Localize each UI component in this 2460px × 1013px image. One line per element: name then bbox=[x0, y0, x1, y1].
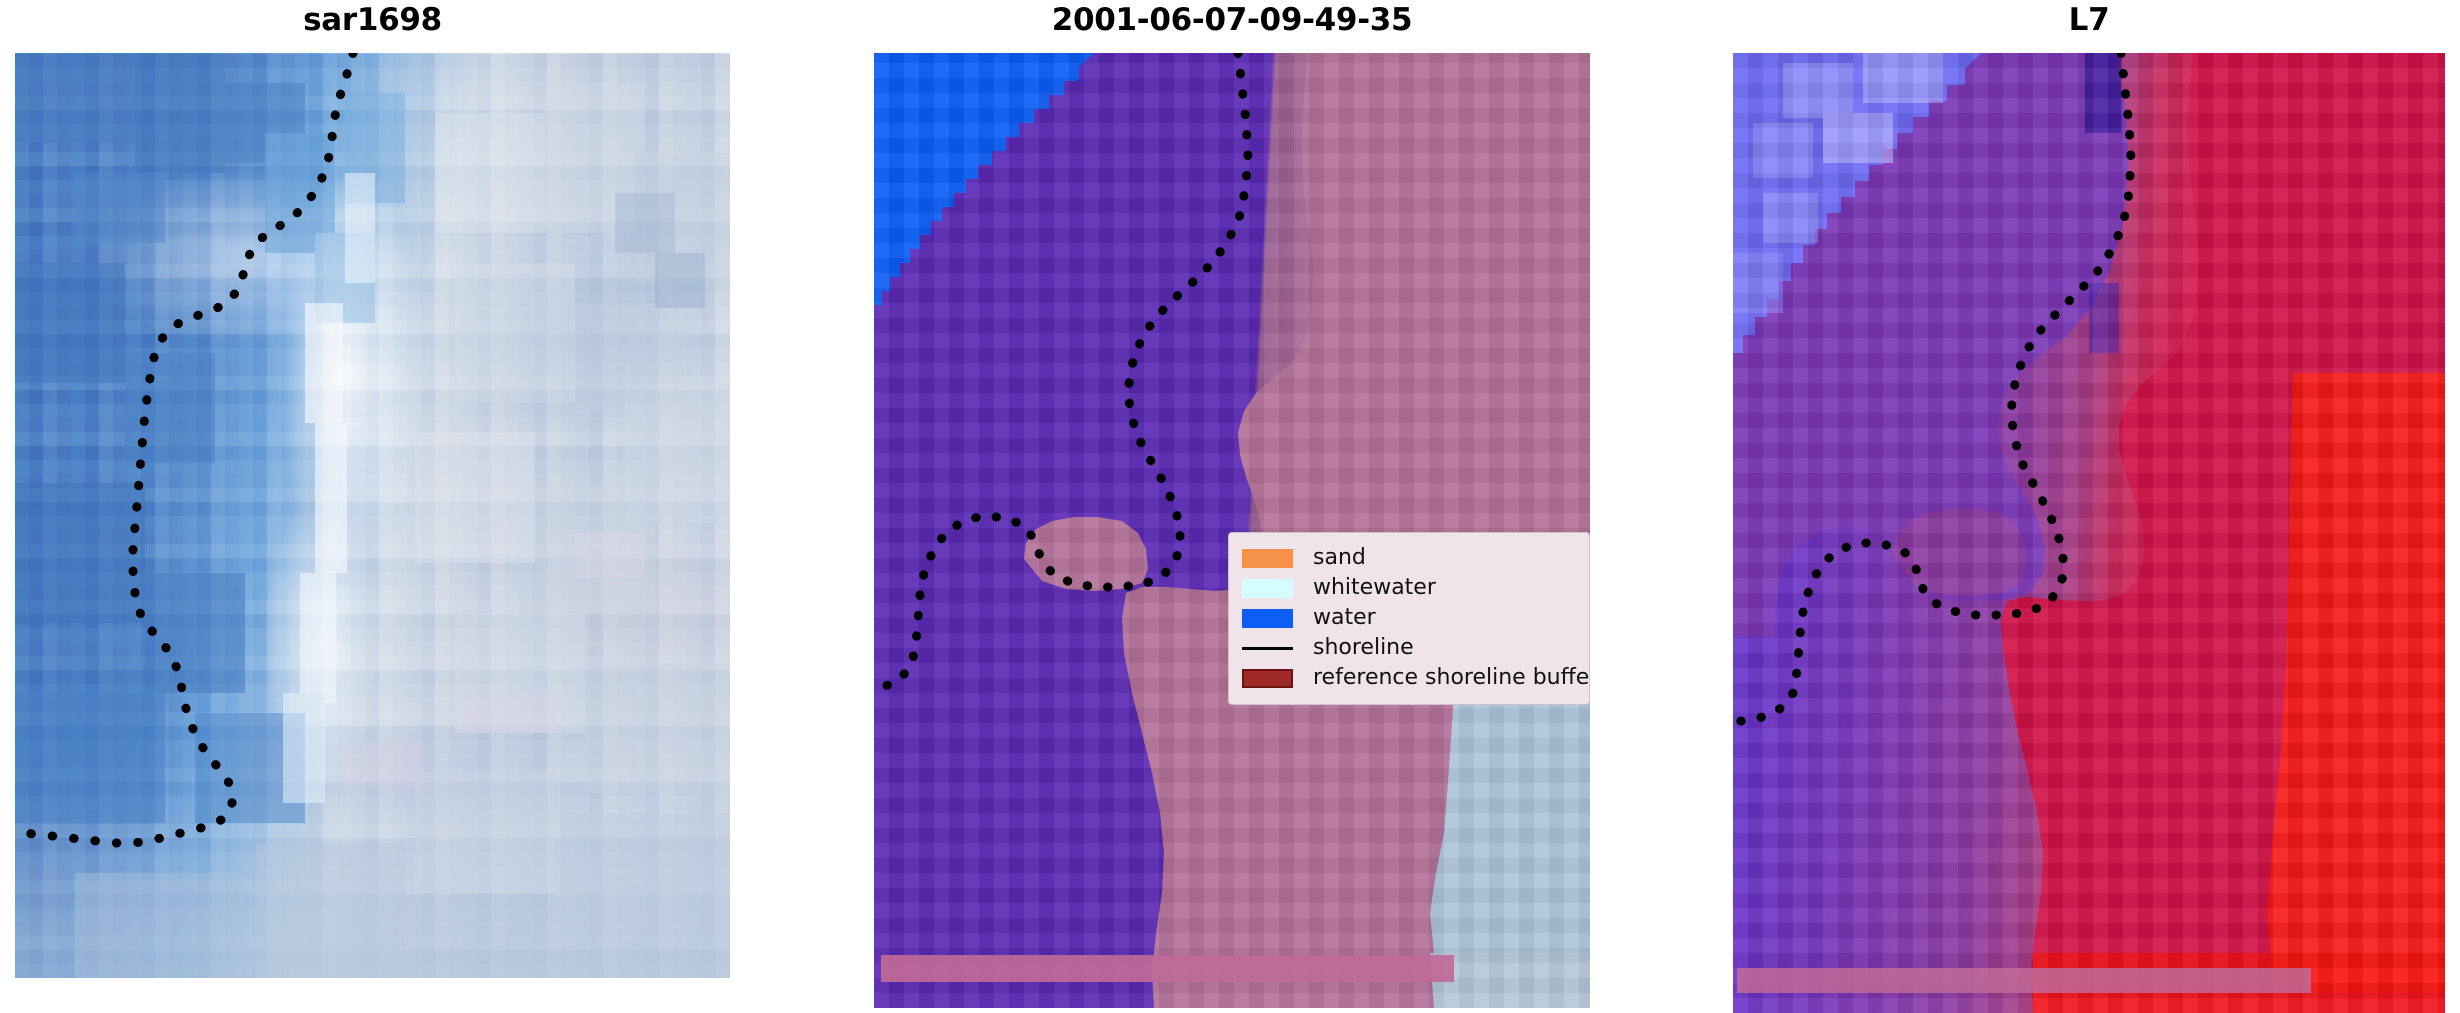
classification-pixel-texture bbox=[874, 53, 1590, 1008]
axes-l7 bbox=[1733, 53, 2445, 1013]
legend-label-sand: sand bbox=[1313, 547, 1366, 569]
panel-classification: 2001-06-07-09-49-35 bbox=[874, 0, 1590, 1010]
legend: sand whitewater water shoreline referenc… bbox=[1228, 532, 1590, 705]
axes-sar bbox=[15, 53, 730, 978]
figure-canvas: sar1698 bbox=[0, 0, 2460, 1010]
legend-row-whitewater: whitewater bbox=[1242, 573, 1575, 603]
reference-shoreline-strip bbox=[881, 955, 1454, 982]
legend-row-reference-shoreline-buffer: reference shoreline buffer bbox=[1242, 663, 1575, 693]
legend-row-shoreline: shoreline bbox=[1242, 633, 1575, 663]
l7-pixel-texture bbox=[1733, 53, 2445, 1013]
panel-title-classification: 2001-06-07-09-49-35 bbox=[874, 2, 1590, 38]
legend-label-water: water bbox=[1313, 607, 1376, 629]
legend-row-sand: sand bbox=[1242, 543, 1575, 573]
reference-shoreline-strip-l7 bbox=[1737, 968, 2311, 993]
panel-l7: L7 bbox=[1733, 0, 2445, 1010]
legend-row-water: water bbox=[1242, 603, 1575, 633]
legend-label-shoreline: shoreline bbox=[1313, 637, 1414, 659]
legend-label-whitewater: whitewater bbox=[1313, 577, 1436, 599]
panel-title-l7: L7 bbox=[1733, 2, 2445, 38]
axes-classification: sand whitewater water shoreline referenc… bbox=[874, 53, 1590, 1008]
panel-sar: sar1698 bbox=[15, 0, 730, 1010]
legend-label-reference-shoreline-buffer: reference shoreline buffer bbox=[1313, 667, 1590, 689]
legend-swatch-whitewater bbox=[1242, 579, 1293, 598]
sar-image-pixel-blocks bbox=[15, 53, 730, 978]
legend-swatch-sand bbox=[1242, 549, 1293, 568]
legend-swatch-water bbox=[1242, 609, 1293, 628]
legend-swatch-reference-shoreline-buffer bbox=[1242, 669, 1293, 688]
panel-title-sar: sar1698 bbox=[15, 2, 730, 38]
legend-line-shoreline bbox=[1242, 639, 1293, 658]
